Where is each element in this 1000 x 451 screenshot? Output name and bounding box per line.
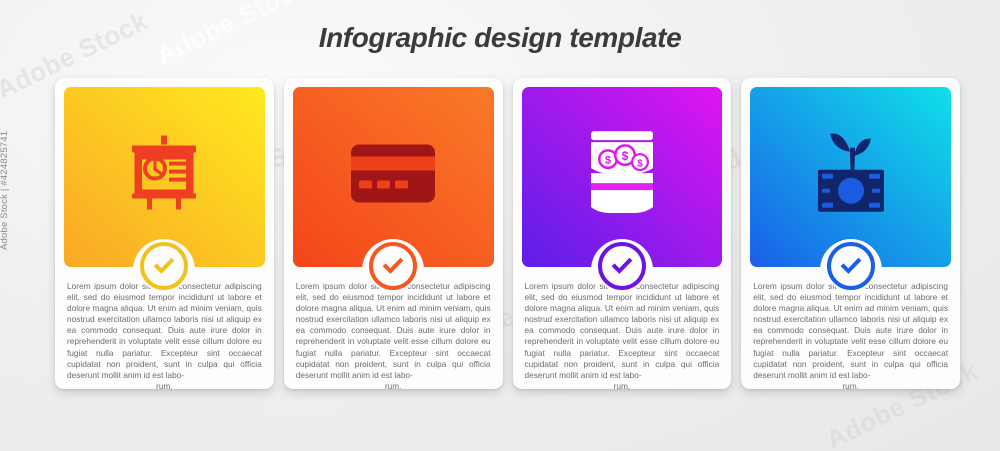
infographic-card[interactable]: Lorem ipsum dolor sit amet, consectetur … (284, 78, 503, 389)
check-circle-icon (827, 242, 875, 290)
money-plant-growth-icon (750, 128, 951, 216)
check-circle-icon (140, 242, 188, 290)
presentation-chart-board-icon (64, 136, 265, 210)
status-badge (596, 240, 648, 292)
card-body-main: Lorem ipsum dolor sit amet, consectetur … (525, 281, 720, 380)
card-list: Lorem ipsum dolor sit amet, consectetur … (55, 78, 960, 389)
infographic-card[interactable]: Lorem ipsum dolor sit amet, consectetur … (55, 78, 274, 389)
status-badge (367, 240, 419, 292)
credit-card-icon (293, 145, 494, 203)
svg-text:$: $ (605, 155, 611, 167)
card-body-text: Lorem ipsum dolor sit amet, consectetur … (753, 281, 948, 392)
card-body-tail: rum. (753, 381, 948, 392)
card-body-text: Lorem ipsum dolor sit amet, consectetur … (296, 281, 491, 392)
infographic-card[interactable]: $ $ $ (513, 78, 732, 389)
treasure-chest-money-icon: $ $ $ (522, 131, 723, 213)
card-body-text: Lorem ipsum dolor sit amet, consectetur … (525, 281, 720, 392)
page-title: Infographic design template (0, 22, 1000, 54)
stock-credit-label: Adobe Stock | #424825741 (0, 131, 10, 250)
card-body-main: Lorem ipsum dolor sit amet, consectetur … (753, 281, 948, 380)
check-circle-icon (369, 242, 417, 290)
infographic-canvas: Adobe Stock Adobe Stock Adobe Stock Adob… (0, 0, 1000, 451)
card-body-tail: rum. (525, 381, 720, 392)
infographic-card[interactable]: Lorem ipsum dolor sit amet, consectetur … (741, 78, 960, 389)
status-badge (138, 240, 190, 292)
svg-text:$: $ (637, 158, 643, 169)
status-badge (825, 240, 877, 292)
card-body-text: Lorem ipsum dolor sit amet, consectetur … (67, 281, 262, 392)
check-circle-icon (598, 242, 646, 290)
svg-text:$: $ (622, 149, 629, 163)
card-body-main: Lorem ipsum dolor sit amet, consectetur … (296, 281, 491, 380)
card-body-tail: rum. (67, 381, 262, 392)
card-body-tail: rum. (296, 381, 491, 392)
card-body-main: Lorem ipsum dolor sit amet, consectetur … (67, 281, 262, 380)
